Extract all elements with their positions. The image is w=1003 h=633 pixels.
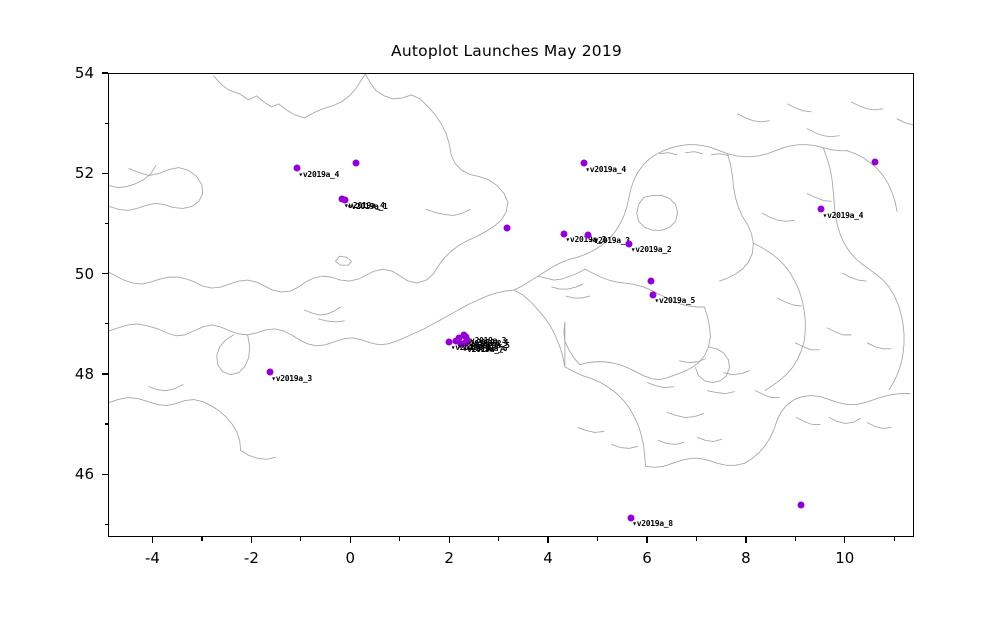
x-axis-tick-label: 0	[346, 549, 356, 567]
scatter-point-label: ▾v2019a_3	[271, 375, 312, 383]
y-axis-tick	[102, 173, 108, 174]
x-axis-tick-label: 10	[835, 549, 854, 567]
x-axis-minor-tick	[201, 537, 202, 541]
x-axis-minor-tick	[696, 537, 697, 541]
x-axis-minor-tick	[498, 537, 499, 541]
scatter-point-label: ▾v2019a_8	[632, 520, 673, 528]
page-title: Autoplot Launches May 2019	[0, 42, 1003, 60]
x-axis-tick-label: -2	[244, 549, 259, 567]
x-axis-minor-tick	[300, 537, 301, 541]
scatter-point-label: ▾v2019a_4	[585, 166, 626, 174]
x-axis-tick-label: 8	[741, 549, 751, 567]
scatter-point[interactable]	[648, 278, 655, 285]
y-axis-tick	[102, 273, 108, 274]
y-axis-tick	[102, 72, 108, 73]
x-axis-tick-label: 2	[444, 549, 454, 567]
scatter-point-label: ▾v2019a_1	[347, 203, 388, 211]
x-axis-minor-tick	[795, 537, 796, 541]
x-axis-tick	[449, 537, 450, 543]
y-axis-tick-label: 46	[58, 465, 94, 483]
x-axis-tick	[745, 537, 746, 543]
x-axis-tick	[350, 537, 351, 543]
y-axis-minor-tick	[105, 323, 109, 324]
y-axis-tick	[102, 373, 108, 374]
y-axis-minor-tick	[105, 423, 109, 424]
y-axis-minor-tick	[105, 524, 109, 525]
scatter-point[interactable]	[504, 225, 511, 232]
scatter-point[interactable]	[872, 158, 879, 165]
x-axis-tick-label: 4	[543, 549, 553, 567]
y-axis-minor-tick	[105, 123, 109, 124]
figure-canvas: Autoplot Launches May 2019	[0, 0, 1003, 633]
scatter-point-label: ▾v2019a_5	[654, 297, 695, 305]
x-axis-minor-tick	[597, 537, 598, 541]
x-axis-tick	[152, 537, 153, 543]
scatter-point-label: ▾v2019a_2	[631, 246, 672, 254]
x-axis-tick-label: -4	[145, 549, 160, 567]
y-axis-tick-label: 50	[58, 265, 94, 283]
y-axis-tick-label: 48	[58, 365, 94, 383]
scatter-points-layer: ▾v2019a_4▾v2019a_4▾v2019a_1▾v2019a_4▾v20…	[109, 74, 913, 536]
scatter-point[interactable]	[798, 502, 805, 509]
x-axis-tick	[547, 537, 548, 543]
scatter-point-label: ▾v2019a_4	[298, 171, 339, 179]
scatter-point[interactable]	[353, 160, 360, 167]
y-axis-minor-tick	[105, 223, 109, 224]
x-axis-tick-label: 6	[642, 549, 652, 567]
y-axis-tick-label: 52	[58, 164, 94, 182]
y-axis-tick	[102, 474, 108, 475]
x-axis-minor-tick	[399, 537, 400, 541]
x-axis-tick	[251, 537, 252, 543]
x-axis-tick	[844, 537, 845, 543]
chart-title-text: Autoplot Launches May 2019	[391, 42, 622, 60]
scatter-point-label: ▾v2019a_3	[589, 237, 630, 245]
x-axis-minor-tick	[894, 537, 895, 541]
plot-axes-area: ▾v2019a_4▾v2019a_4▾v2019a_1▾v2019a_4▾v20…	[108, 73, 914, 537]
y-axis-tick-label: 54	[58, 64, 94, 82]
x-axis-tick	[646, 537, 647, 543]
scatter-point-label: ▾v2019a_8	[458, 343, 499, 351]
scatter-point-label: ▾v2019a_4	[823, 212, 864, 220]
